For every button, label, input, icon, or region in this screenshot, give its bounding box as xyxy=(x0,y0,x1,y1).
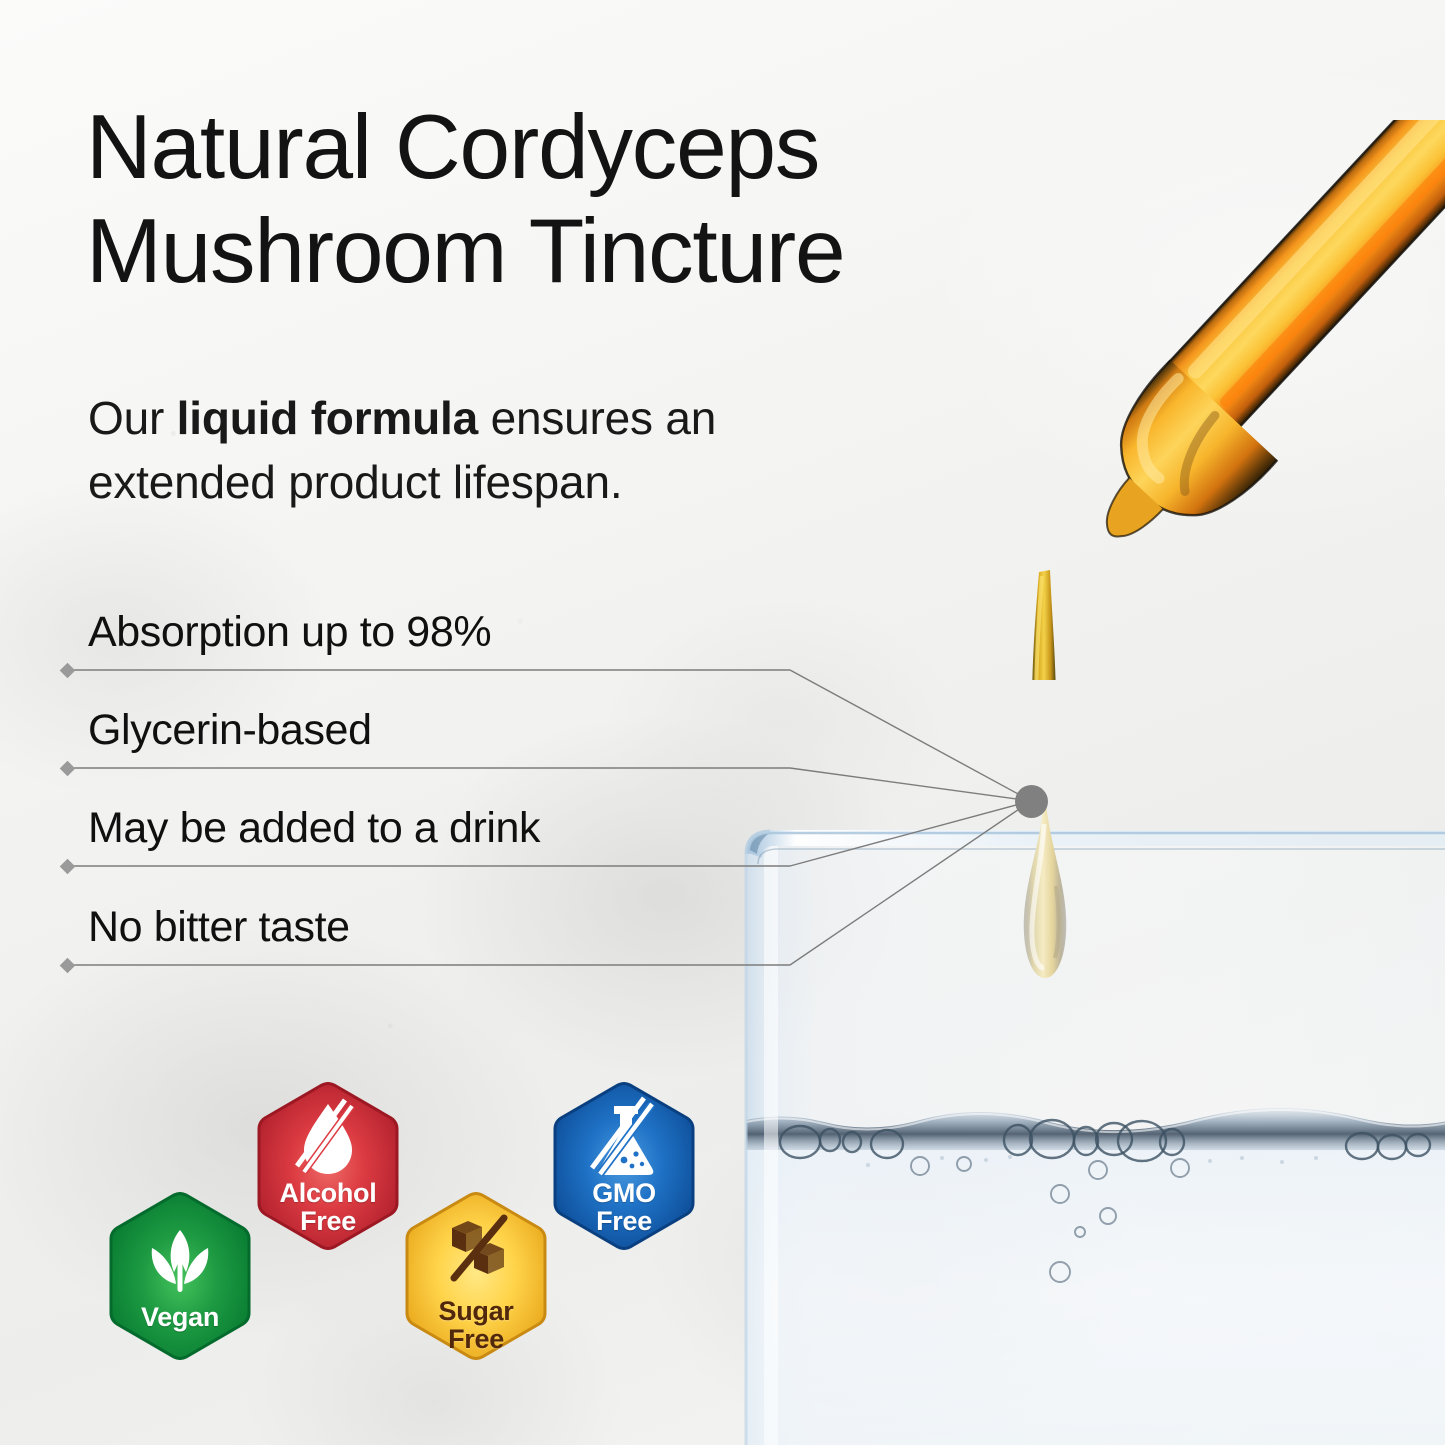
page-title: Natural Cordyceps Mushroom Tincture xyxy=(86,96,1126,303)
subtitle-emphasis: liquid formula xyxy=(177,392,478,444)
badge-vegan-label: Vegan xyxy=(104,1304,256,1332)
badge-gmo-line1: GMO xyxy=(548,1180,700,1208)
badge-sugar-free[interactable]: Sugar Free xyxy=(400,1192,552,1360)
badge-gmo-line2: Free xyxy=(548,1208,700,1236)
badge-alcohol-line1: Alcohol xyxy=(252,1180,404,1208)
feature-label-glycerin: Glycerin-based xyxy=(88,706,372,755)
badge-alcohol-line2: Free xyxy=(252,1208,404,1236)
certification-badges: Vegan Alcohol xyxy=(104,1082,754,1382)
feature-label-taste: No bitter taste xyxy=(88,903,350,952)
subtitle: Our liquid formula ensures an extended p… xyxy=(88,386,848,515)
water-glass xyxy=(742,820,1445,1445)
callout-hub-point xyxy=(1015,785,1048,818)
product-infographic: Natural Cordyceps Mushroom Tincture Our … xyxy=(0,0,1445,1445)
feature-label-absorption: Absorption up to 98% xyxy=(88,608,491,657)
badge-sugar-line2: Free xyxy=(400,1326,552,1354)
feature-label-drink: May be added to a drink xyxy=(88,804,540,853)
badge-gmo-free[interactable]: GMO Free xyxy=(548,1082,700,1250)
badge-sugar-line1: Sugar xyxy=(400,1298,552,1326)
badge-vegan[interactable]: Vegan xyxy=(104,1192,256,1360)
subtitle-pre: Our xyxy=(88,392,177,444)
falling-tincture-droplet xyxy=(1000,800,1090,1020)
badge-alcohol-free[interactable]: Alcohol Free xyxy=(252,1082,404,1250)
